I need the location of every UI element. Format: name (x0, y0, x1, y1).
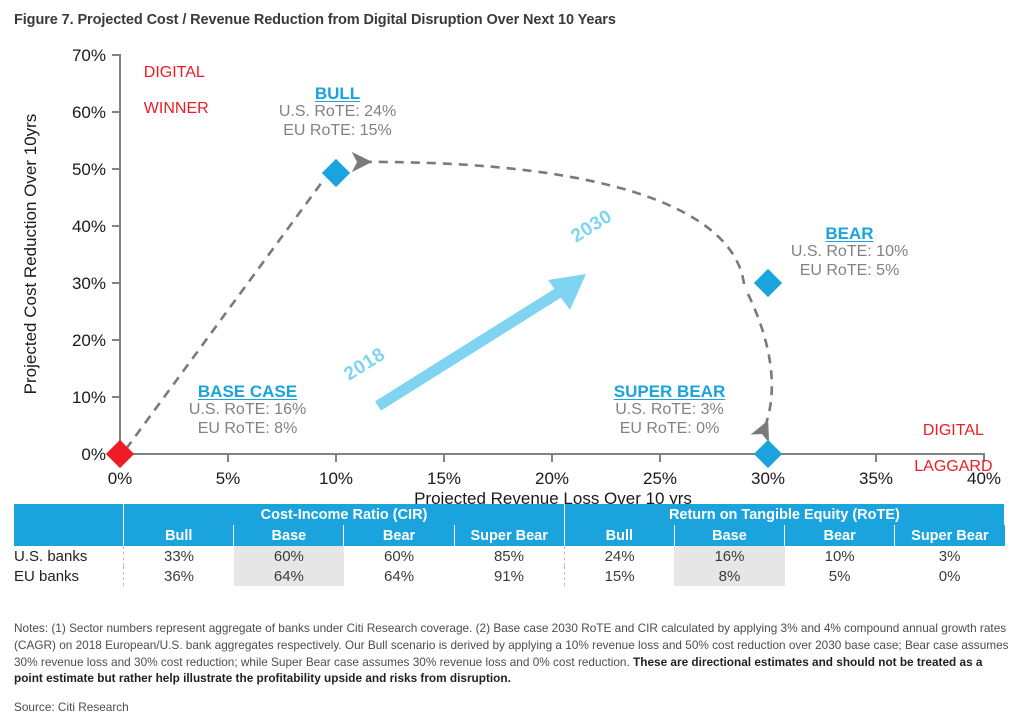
sub-header-cir-base: Base (234, 525, 344, 546)
row-label-eu-banks: EU banks (14, 566, 124, 586)
cell-us-rote-bear: 10% (785, 546, 895, 566)
scenario-us-rote-super-bear: U.S. RoTE: 3% (562, 401, 777, 419)
chart-container: 0% 10% 20% 30% 40% 50% 60% 70% 0% 5% 10%… (0, 34, 1019, 504)
cell-us-rote-base: 16% (674, 546, 784, 566)
y-tick-10: 10% (72, 388, 106, 407)
cell-us-cir-super-bear: 85% (454, 546, 564, 566)
scenario-name-bear: BEAR (752, 224, 947, 243)
x-tick-20: 20% (535, 469, 569, 488)
sub-header-rote-bear: Bear (785, 525, 895, 546)
scenario-label-bull: BULL U.S. RoTE: 24% EU RoTE: 15% (240, 84, 435, 140)
y-axis-title: Projected Cost Reduction Over 10yrs (21, 114, 40, 395)
x-axis-title: Projected Revenue Loss Over 10 yrs (414, 489, 692, 504)
x-tick-5: 5% (216, 469, 241, 488)
cell-us-cir-base: 60% (234, 546, 344, 566)
y-tick-70: 70% (72, 46, 106, 65)
group-header-rote: Return on Tangible Equity (RoTE) (564, 504, 1004, 525)
cell-eu-rote-base: 8% (674, 566, 784, 586)
y-axis-tick-labels: 0% 10% 20% 30% 40% 50% 60% 70% (72, 46, 106, 464)
cell-eu-cir-super-bear: 91% (454, 566, 564, 586)
scenario-us-rote-bull: U.S. RoTE: 24% (240, 103, 435, 121)
scenario-us-rote-base-case: U.S. RoTE: 16% (150, 401, 345, 419)
page-title: Figure 7. Projected Cost / Revenue Reduc… (14, 12, 616, 28)
y-tick-20: 20% (72, 331, 106, 350)
sub-header-cir-super-bear: Super Bear (454, 525, 564, 546)
digital-winner-line2: WINNER (144, 100, 209, 117)
y-tick-50: 50% (72, 160, 106, 179)
sub-header-cir-bull: Bull (124, 525, 234, 546)
digital-laggard-line1: DIGITAL (923, 422, 984, 439)
scenario-table: Cost-Income Ratio (CIR) Return on Tangib… (14, 504, 1005, 586)
group-header-blank (14, 504, 124, 525)
x-axis-ticks (120, 454, 984, 462)
notes-block: Notes: (1) Sector numbers represent aggr… (14, 620, 1009, 687)
sub-header-rote-super-bear: Super Bear (895, 525, 1005, 546)
table-row: U.S. banks 33% 60% 60% 85% 24% 16% 10% 3… (14, 546, 1005, 566)
x-tick-10: 10% (319, 469, 353, 488)
digital-winner-label: DIGITAL WINNER (126, 46, 209, 136)
x-axis-tick-labels: 0% 5% 10% 15% 20% 25% 30% 35% 40% (108, 469, 1001, 488)
cell-eu-cir-base: 64% (234, 566, 344, 586)
transition-arrow-2018-2030 (378, 274, 586, 406)
row-label-us-banks: U.S. banks (14, 546, 124, 566)
cell-us-cir-bear: 60% (344, 546, 454, 566)
sub-header-rote-base: Base (674, 525, 784, 546)
cell-us-rote-super-bear: 3% (895, 546, 1005, 566)
table-sub-header-row: Bull Base Bear Super Bear Bull Base Bear… (14, 525, 1005, 546)
x-tick-0: 0% (108, 469, 133, 488)
scenario-label-bear: BEAR U.S. RoTE: 10% EU RoTE: 5% (752, 224, 947, 280)
sub-header-cir-bear: Bear (344, 525, 454, 546)
cell-eu-rote-bull: 15% (564, 566, 674, 586)
digital-laggard-line2: LAGGARD (914, 458, 992, 475)
cell-eu-cir-bull: 36% (124, 566, 234, 586)
scenario-us-rote-bear: U.S. RoTE: 10% (752, 243, 947, 261)
cell-eu-rote-bear: 5% (785, 566, 895, 586)
y-tick-30: 30% (72, 274, 106, 293)
scenario-eu-rote-base-case: EU RoTE: 8% (150, 420, 345, 438)
sub-header-blank (14, 525, 124, 546)
cell-eu-cir-bear: 64% (344, 566, 454, 586)
x-tick-25: 25% (643, 469, 677, 488)
scenario-label-base-case: BASE CASE U.S. RoTE: 16% EU RoTE: 8% (150, 382, 345, 438)
cell-eu-rote-super-bear: 0% (895, 566, 1005, 586)
cell-us-cir-bull: 33% (124, 546, 234, 566)
scenario-label-super-bear: SUPER BEAR U.S. RoTE: 3% EU RoTE: 0% (562, 382, 777, 438)
scenario-eu-rote-bear: EU RoTE: 5% (752, 262, 947, 280)
table-group-header-row: Cost-Income Ratio (CIR) Return on Tangib… (14, 504, 1005, 525)
data-point-super-bear[interactable] (754, 440, 782, 468)
cell-us-rote-bull: 24% (564, 546, 674, 566)
scenario-name-bull: BULL (240, 84, 435, 103)
digital-winner-line1: DIGITAL (144, 64, 205, 81)
x-tick-30: 30% (751, 469, 785, 488)
group-header-cir: Cost-Income Ratio (CIR) (124, 504, 565, 525)
y-tick-40: 40% (72, 217, 106, 236)
y-tick-60: 60% (72, 103, 106, 122)
y-axis-ticks (112, 55, 120, 454)
scenario-name-base-case: BASE CASE (150, 382, 345, 401)
source-line: Source: Citi Research (14, 700, 129, 714)
x-tick-15: 15% (427, 469, 461, 488)
sub-header-rote-bull: Bull (564, 525, 674, 546)
table-row: EU banks 36% 64% 64% 91% 15% 8% 5% 0% (14, 566, 1005, 586)
scenario-eu-rote-bull: EU RoTE: 15% (240, 122, 435, 140)
data-point-bull[interactable] (322, 159, 350, 187)
scenario-eu-rote-super-bear: EU RoTE: 0% (562, 420, 777, 438)
y-tick-0: 0% (81, 445, 106, 464)
path-bear-to-bull (357, 162, 744, 284)
scenario-name-super-bear: SUPER BEAR (562, 382, 777, 401)
digital-laggard-label: DIGITAL LAGGARD (877, 404, 1012, 494)
